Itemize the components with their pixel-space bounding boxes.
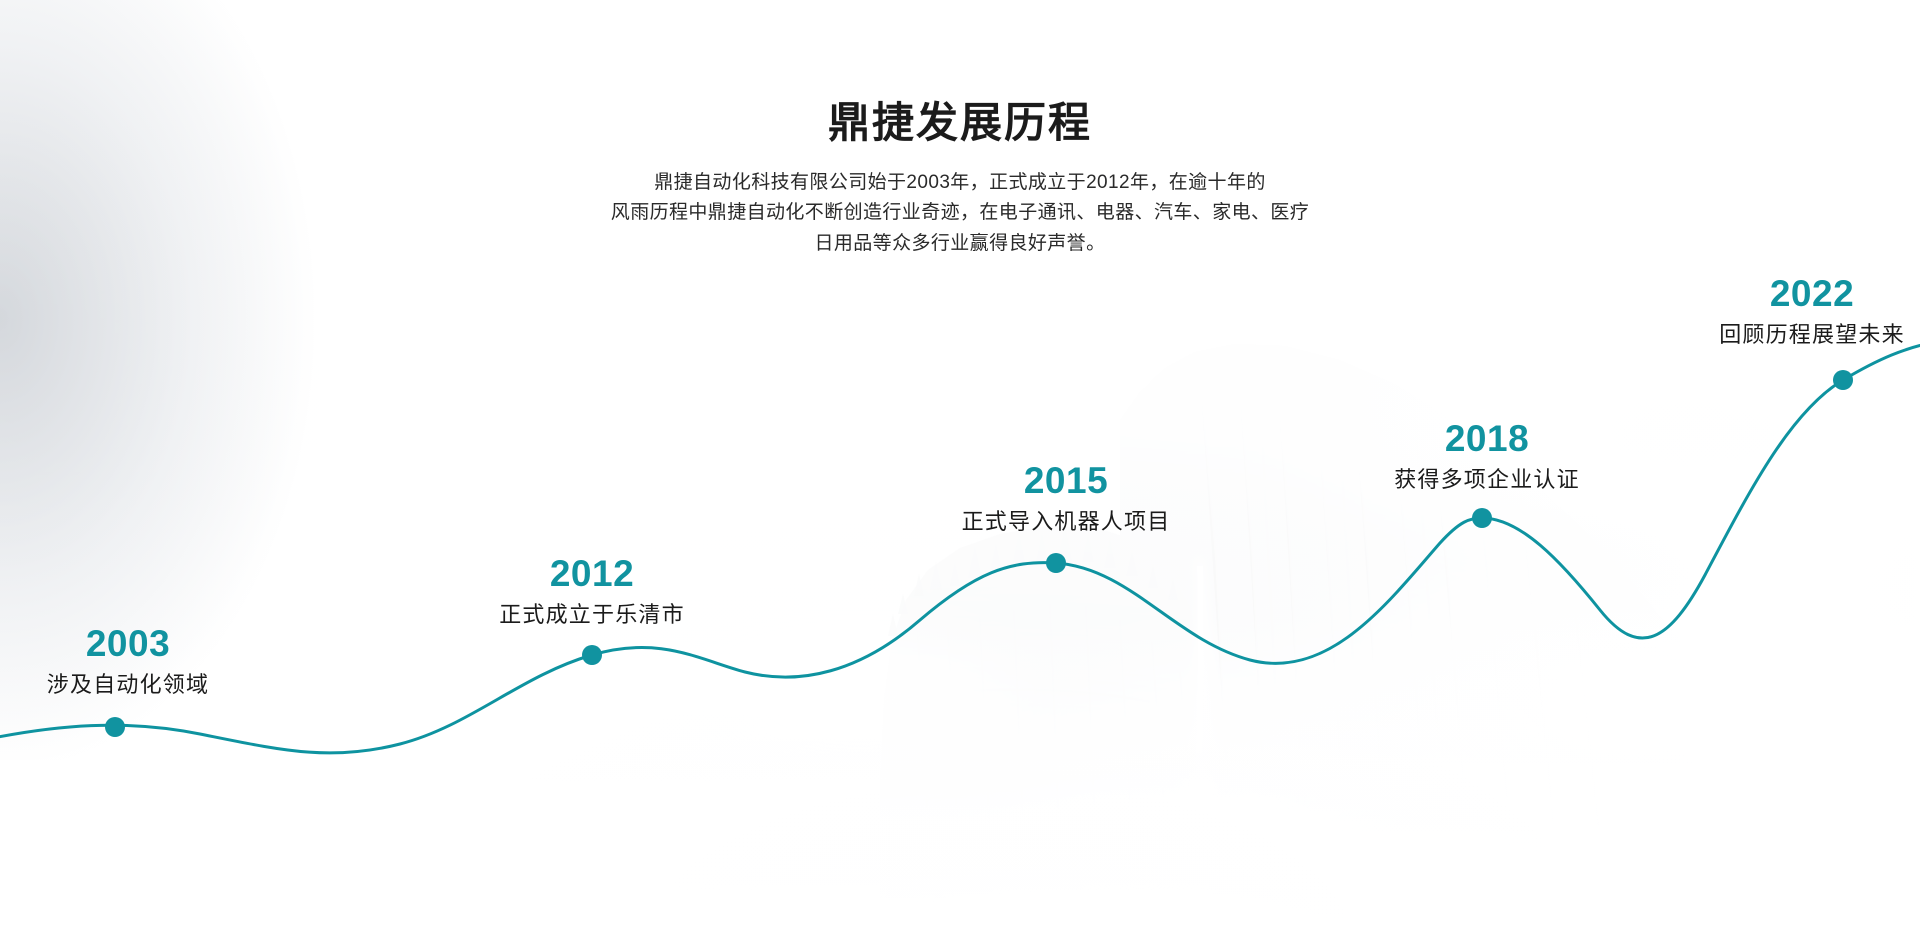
milestone-year-2018: 2018 — [1394, 420, 1580, 458]
milestone-description-2022: 回顾历程展望未来 — [1719, 320, 1905, 350]
milestone-description-2015: 正式导入机器人项目 — [962, 507, 1171, 537]
milestone-2022[interactable]: 2022回顾历程展望未来 — [1719, 275, 1905, 349]
milestone-description-2018: 获得多项企业认证 — [1394, 465, 1580, 495]
timeline-dot-2018[interactable] — [1472, 508, 1492, 528]
timeline-dot-2015[interactable] — [1046, 553, 1066, 573]
timeline-dot-2022[interactable] — [1833, 370, 1853, 390]
milestone-2012[interactable]: 2012正式成立于乐清市 — [499, 555, 685, 629]
milestone-year-2012: 2012 — [499, 555, 685, 593]
timeline-path — [0, 342, 1920, 753]
timeline-dot-2012[interactable] — [582, 645, 602, 665]
milestone-2018[interactable]: 2018获得多项企业认证 — [1394, 420, 1580, 494]
header: 鼎捷发展历程 鼎捷自动化科技有限公司始于2003年，正式成立于2012年，在逾十… — [0, 98, 1920, 260]
milestone-description-2003: 涉及自动化领域 — [47, 670, 209, 700]
milestone-2003[interactable]: 2003涉及自动化领域 — [47, 625, 209, 699]
milestone-year-2022: 2022 — [1719, 275, 1905, 313]
page-title: 鼎捷发展历程 — [0, 98, 1920, 148]
milestone-2015[interactable]: 2015正式导入机器人项目 — [962, 462, 1171, 536]
page-subtitle: 鼎捷自动化科技有限公司始于2003年，正式成立于2012年，在逾十年的 风雨历程… — [0, 168, 1920, 260]
subtitle-line-2: 风雨历程中鼎捷自动化不断创造行业奇迹，在电子通讯、电器、汽车、家电、医疗 — [0, 198, 1920, 229]
subtitle-line-1: 鼎捷自动化科技有限公司始于2003年，正式成立于2012年，在逾十年的 — [0, 168, 1920, 199]
subtitle-line-3: 日用品等众多行业赢得良好声誉。 — [0, 229, 1920, 260]
timeline-dot-2003[interactable] — [105, 717, 125, 737]
milestone-year-2015: 2015 — [962, 462, 1171, 500]
milestone-year-2003: 2003 — [47, 625, 209, 663]
milestone-description-2012: 正式成立于乐清市 — [499, 600, 685, 630]
